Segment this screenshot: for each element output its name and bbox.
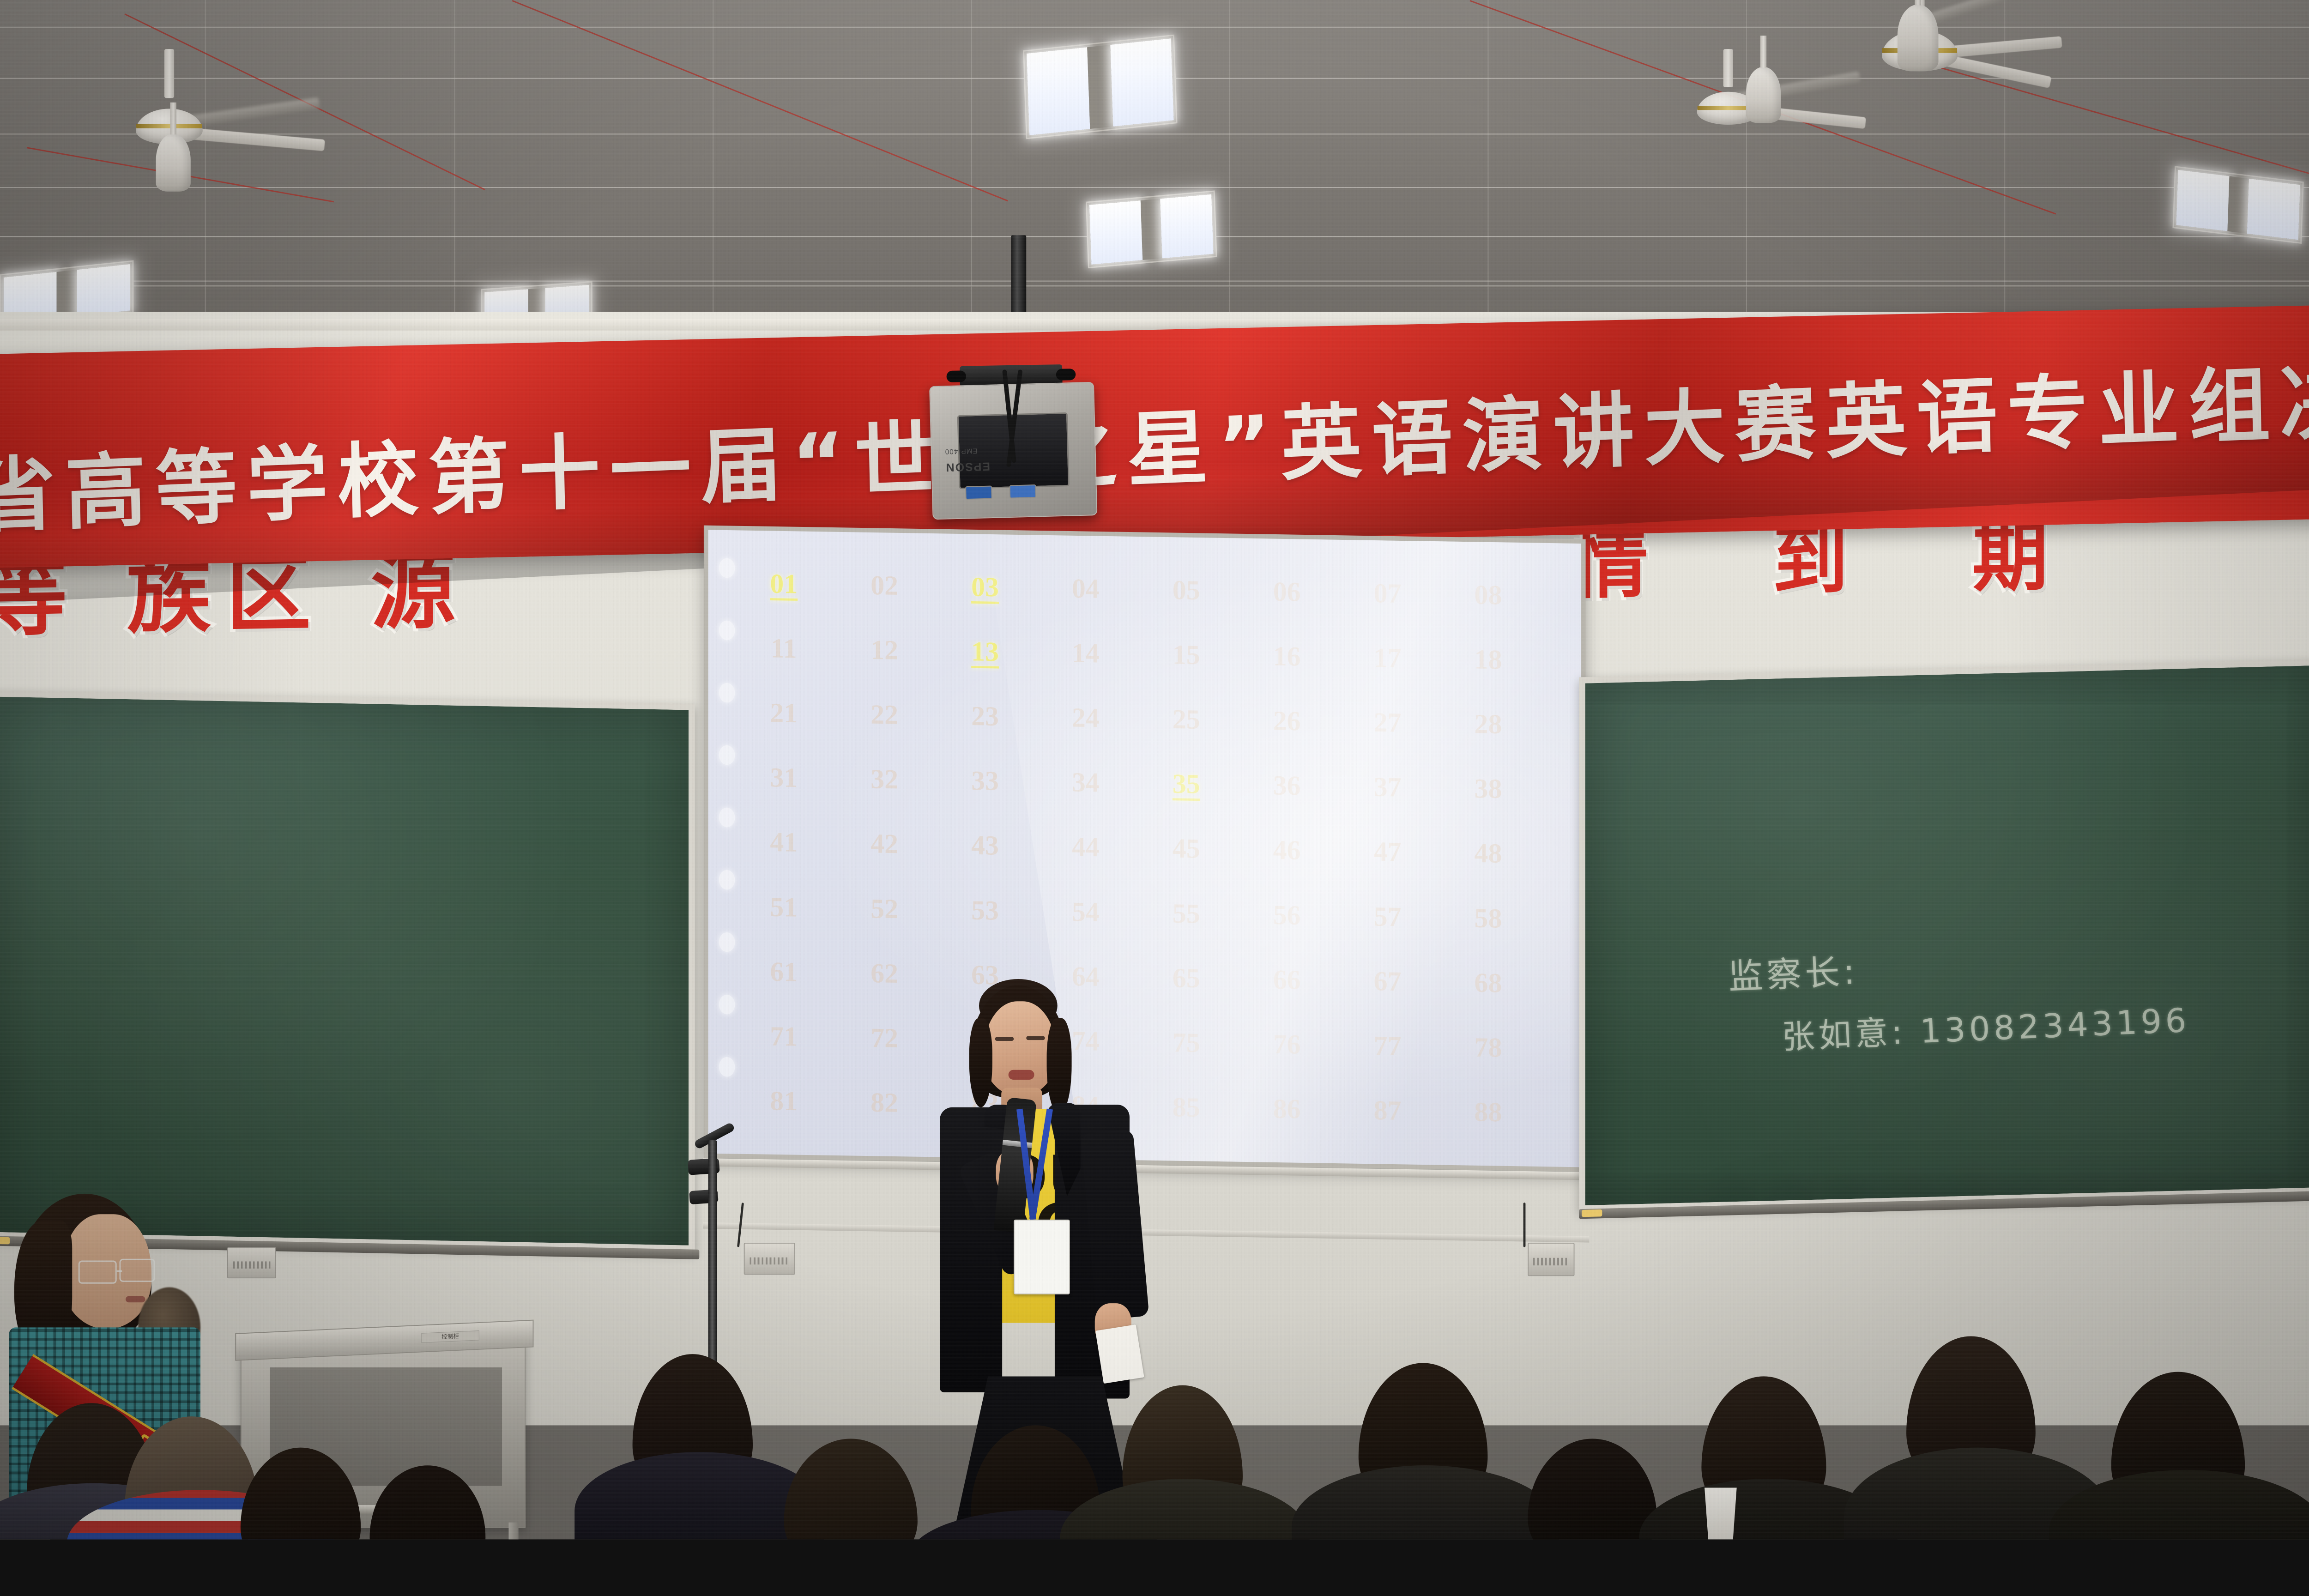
slide-number-12: 12 (835, 618, 934, 683)
chalkboard-left (0, 690, 695, 1252)
slide-number-47: 47 (1338, 820, 1437, 884)
speaker-name-badge[interactable] (1014, 1220, 1070, 1294)
projector-model-label: EMP-400 (945, 447, 978, 455)
slide-number-15: 15 (1137, 623, 1236, 687)
slide-number-11: 11 (734, 617, 833, 681)
slide-number-31: 31 (734, 746, 833, 810)
slide-number-43: 43 (936, 814, 1034, 878)
slide-number-41: 41 (734, 810, 833, 875)
slide-number-57: 57 (1338, 885, 1437, 949)
ceiling-light-troffer (1086, 190, 1217, 268)
ceiling-speaker (1898, 5, 1939, 72)
slide-number-26: 26 (1238, 689, 1336, 754)
wall-junction-box (744, 1243, 795, 1275)
slide-number-33: 33 (936, 749, 1034, 813)
slide-number-14: 14 (1036, 622, 1135, 686)
slide-number-54: 54 (1036, 880, 1135, 944)
projector-brand-label: EPSON (945, 459, 990, 474)
ceiling-light-troffer (1023, 35, 1177, 139)
slide-number-42: 42 (835, 812, 934, 877)
slide-number-04: 04 (1036, 557, 1135, 621)
slide-number-02: 02 (835, 554, 934, 618)
slide-number-77: 77 (1338, 1014, 1437, 1078)
slide-number-03: 03 (936, 555, 1034, 619)
staff-glasses-bridge (117, 1270, 122, 1272)
ceiling-speaker (156, 133, 191, 191)
slide-number-34: 34 (1036, 751, 1135, 815)
slide-number-88: 88 (1439, 1080, 1537, 1144)
slide-number-52: 52 (835, 877, 934, 941)
slide-number-27: 27 (1338, 691, 1437, 755)
slide-number-71: 71 (734, 1004, 833, 1069)
speaker-eye-left (995, 1037, 1014, 1041)
staff-glasses (119, 1259, 155, 1282)
slide-number-24: 24 (1036, 686, 1135, 750)
slide-number-87: 87 (1338, 1079, 1437, 1143)
speaker-hair-strand (1047, 1018, 1072, 1114)
speaker-mouth (1009, 1070, 1034, 1080)
slide-number-76: 76 (1238, 1012, 1336, 1076)
slide-number-08: 08 (1439, 563, 1537, 627)
slide-number-37: 37 (1338, 756, 1437, 820)
audience-head (784, 1439, 918, 1539)
slide-number-22: 22 (835, 683, 934, 747)
slide-number-17: 17 (1338, 626, 1437, 690)
ceiling-wire (512, 0, 1008, 201)
projector-vga-port-2 (1009, 484, 1037, 498)
projector-vga-port (965, 485, 992, 499)
slide-number-01: 01 (734, 552, 833, 617)
slide-number-53: 53 (936, 878, 1034, 943)
slide-number-67: 67 (1338, 949, 1437, 1014)
staff-mouth (126, 1296, 145, 1303)
ceiling (0, 0, 2309, 339)
slide-number-44: 44 (1036, 816, 1135, 880)
slide-number-06: 06 (1238, 560, 1336, 624)
slide-number-61: 61 (734, 940, 833, 1004)
slide-number-68: 68 (1439, 951, 1537, 1015)
slide-number-32: 32 (835, 748, 934, 812)
wall-cable (1523, 1203, 1526, 1247)
slide-number-78: 78 (1439, 1016, 1537, 1080)
speaker-note-card[interactable] (1095, 1324, 1144, 1384)
slide-number-16: 16 (1238, 625, 1336, 689)
speaker-face (984, 1001, 1057, 1096)
slide-number-23: 23 (936, 684, 1034, 749)
wall-junction-box (1528, 1243, 1574, 1276)
cabinet-leg (508, 1523, 518, 1540)
audience-head (1528, 1439, 1657, 1539)
slide-number-45: 45 (1137, 817, 1236, 881)
audience-shoulders (1292, 1465, 1559, 1539)
staff-glasses (79, 1261, 117, 1284)
slide-number-48: 48 (1439, 822, 1537, 886)
slide-number-66: 66 (1238, 948, 1336, 1012)
chalkboard-right (1579, 659, 2309, 1212)
ceiling-speaker (1746, 67, 1781, 123)
ceiling-light-troffer (2173, 166, 2304, 244)
slide-number-86: 86 (1238, 1077, 1336, 1141)
slide-number-28: 28 (1439, 692, 1537, 756)
slide-number-05: 05 (1137, 558, 1236, 623)
slide-number-56: 56 (1238, 883, 1336, 947)
slide-number-07: 07 (1338, 562, 1437, 626)
slide-number-21: 21 (734, 681, 833, 745)
slide-number-25: 25 (1137, 688, 1236, 752)
ceiling-fan (1626, 54, 1831, 156)
slide-number-55: 55 (1137, 882, 1236, 946)
slide-number-35: 35 (1137, 752, 1236, 816)
classroom-photo-scene: 等 族区 源 情 到 期 省高等学校第十一届“世纪之星”英语演讲大赛英语专业组决… (0, 0, 2309, 1539)
slide-number-18: 18 (1439, 628, 1537, 692)
slide-number-46: 46 (1238, 818, 1336, 883)
speaker-hair-strand (969, 1018, 992, 1107)
slide-number-81: 81 (734, 1069, 833, 1133)
slide-number-38: 38 (1439, 757, 1537, 821)
banner-text: 省高等学校第十一届“世纪之星”英语演讲大赛英语专业组决 (0, 336, 2309, 549)
slide-number-51: 51 (734, 875, 833, 939)
speaker-eye-right (1026, 1036, 1045, 1040)
slide-number-36: 36 (1238, 754, 1336, 818)
slide-number-58: 58 (1439, 886, 1537, 950)
chalkboard-text-line1: 监察长: (1727, 944, 1859, 999)
slide-number-13: 13 (936, 620, 1034, 684)
